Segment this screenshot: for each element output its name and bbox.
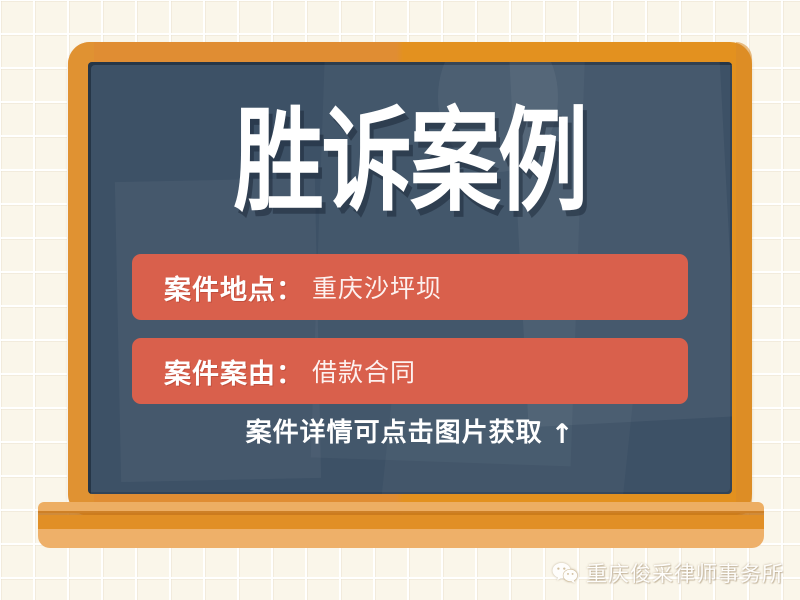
watermark-text: 重庆俊采律师事务所 <box>586 558 784 588</box>
board-shelf <box>38 502 764 548</box>
case-cause-row: 案件案由： 借款合同 <box>132 338 688 404</box>
case-location-label: 案件地点： <box>164 268 304 307</box>
case-info-list: 案件地点： 重庆沙坪坝 案件案由： 借款合同 <box>132 254 688 422</box>
case-detail-hint-text: 案件详情可点击图片获取 <box>246 418 543 448</box>
shelf-band <box>38 515 764 530</box>
watermark: 重庆俊采律师事务所 <box>552 558 784 588</box>
blackboard-frame: 胜诉案例 案件地点： 重庆沙坪坝 案件案由： 借款合同 案件详情可点击图片获取↑ <box>68 42 752 516</box>
poster-canvas: 胜诉案例 案件地点： 重庆沙坪坝 案件案由： 借款合同 案件详情可点击图片获取↑ <box>0 0 800 600</box>
wechat-icon <box>552 562 578 584</box>
blackboard-surface: 胜诉案例 案件地点： 重庆沙坪坝 案件案由： 借款合同 案件详情可点击图片获取↑ <box>88 62 732 494</box>
poster-title: 胜诉案例 <box>94 106 725 218</box>
case-cause-label: 案件案由： <box>164 352 304 391</box>
case-location-value: 重庆沙坪坝 <box>312 269 442 305</box>
up-arrow-icon: ↑ <box>551 419 575 450</box>
shelf-lip <box>38 529 764 548</box>
case-cause-value: 借款合同 <box>312 353 416 389</box>
case-detail-hint[interactable]: 案件详情可点击图片获取↑ <box>88 412 732 449</box>
case-location-row: 案件地点： 重庆沙坪坝 <box>132 254 688 320</box>
